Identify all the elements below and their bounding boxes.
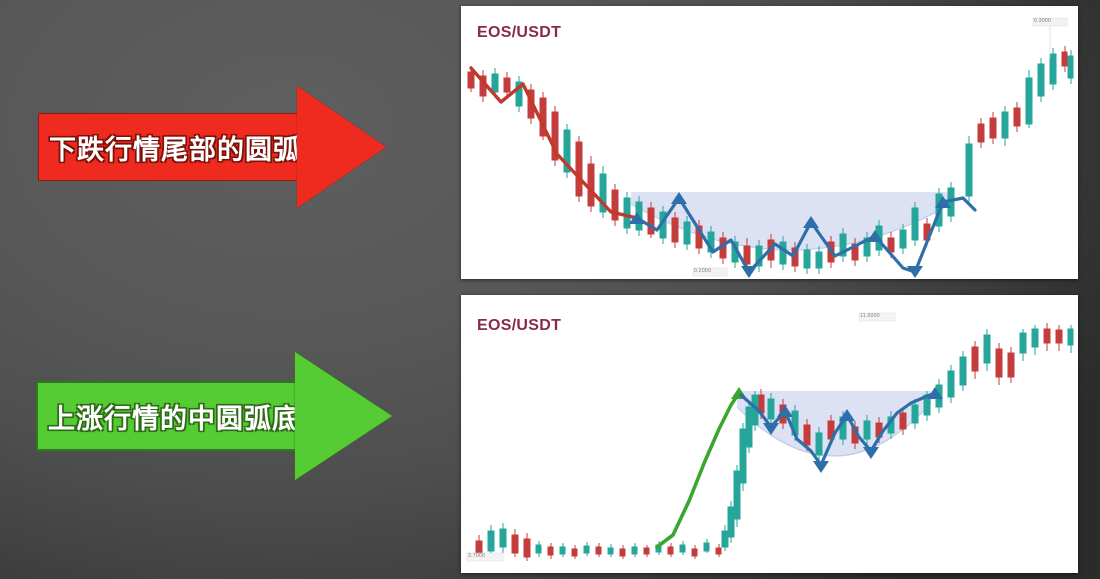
- annotation-label-downtrend: 下跌行情尾部的圆弧底: [49, 128, 329, 167]
- right-arrow-icon: [297, 86, 386, 208]
- arrow-shaft: 上涨行情的中圆弧底: [36, 381, 298, 451]
- price-label-low-bottom: 3.7000: [468, 553, 485, 559]
- arrow-shaft: 下跌行情尾部的圆弧底: [38, 113, 300, 181]
- price-label-low-top: 0.2000: [694, 268, 711, 274]
- chart-panel-bottom[interactable]: EOS/USDT 11.0000 3.7000: [461, 295, 1078, 573]
- annotation-arrow-downtrend: 下跌行情尾部的圆弧底: [38, 86, 386, 208]
- annotation-arrow-uptrend: 上涨行情的中圆弧底: [36, 352, 392, 480]
- chart-top-svg: [461, 6, 1078, 279]
- candlestick-series-top: [468, 46, 1073, 274]
- candlestick-series-bottom: [476, 323, 1073, 561]
- right-arrow-icon: [295, 352, 392, 480]
- chart-panel-top[interactable]: EOS/USDT 0.3000 0.2000: [461, 6, 1078, 279]
- chart-title-top: EOS/USDT: [477, 24, 561, 42]
- chart-bottom-svg: [461, 295, 1078, 573]
- chart-title-bottom: EOS/USDT: [477, 317, 561, 335]
- slide-canvas: 下跌行情尾部的圆弧底 上涨行情的中圆弧底: [0, 0, 1100, 579]
- price-label-high-bottom: 11.0000: [860, 313, 880, 319]
- price-label-high-top: 0.3000: [1034, 18, 1051, 24]
- annotation-label-uptrend: 上涨行情的中圆弧底: [48, 397, 300, 436]
